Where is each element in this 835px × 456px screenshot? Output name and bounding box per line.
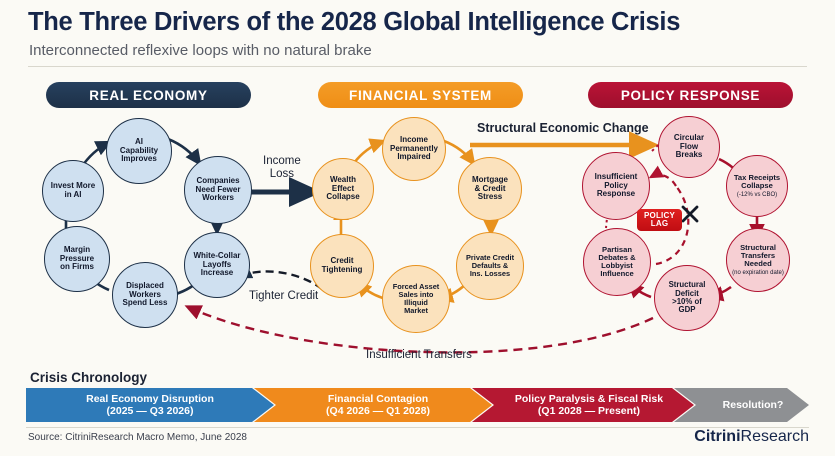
logo-bold: Citrini: [694, 428, 740, 445]
node-wealth-effect-collapse[interactable]: Wealth Effect Collapse: [312, 158, 374, 220]
connector-label-tighter-credit: Tighter Credit: [249, 290, 318, 302]
node-line: on Firms: [60, 263, 94, 272]
footer-divider: [26, 427, 809, 428]
node-displaced-workers-spend-less[interactable]: Displaced Workers Spend Less: [112, 262, 178, 328]
node-credit-tightening[interactable]: Credit Tightening: [310, 234, 374, 298]
node-line: Stress: [478, 193, 502, 202]
node-structural-deficit[interactable]: Structural Deficit >10% of GDP: [654, 265, 720, 331]
income-loss-line1: Income: [263, 155, 301, 168]
node-forced-asset-sales[interactable]: Forced Asset Sales into Illiquid Market: [382, 265, 450, 333]
node-line: Breaks: [676, 151, 703, 160]
node-subtext: (no expiration date): [732, 270, 784, 276]
node-circular-flow-breaks[interactable]: Circular Flow Breaks: [658, 116, 720, 178]
income-loss-line2: Loss: [263, 168, 301, 181]
node-line: Market: [404, 307, 428, 315]
node-white-collar-layoffs-increase[interactable]: White-Collar Layoffs Increase: [184, 232, 250, 298]
node-line: Improves: [121, 155, 157, 164]
policy-lag-line2: LAG: [651, 220, 669, 228]
chrono-label-financial-contagion: Financial Contagion (Q4 2026 — Q1 2028): [288, 393, 468, 417]
node-line: in AI: [64, 191, 81, 200]
node-tax-receipts-collapse[interactable]: Tax Receipts Collapse (-12% vs CBO): [726, 155, 788, 217]
node-line: Tightening: [322, 266, 363, 275]
node-line: Ins. Losses: [470, 270, 510, 278]
node-line: Needed: [744, 260, 771, 268]
policy-lag-badge: POLICY LAG: [637, 209, 682, 231]
node-structural-transfers-needed[interactable]: Structural Transfers Needed (no expirati…: [726, 228, 790, 292]
node-private-credit-defaults[interactable]: Private Credit Defaults & Ins. Losses: [456, 232, 524, 300]
node-income-permanently-impaired[interactable]: Income Permanently Impaired: [382, 117, 446, 181]
chrono-label-real-economy-disruption: Real Economy Disruption (2025 — Q3 2026): [60, 393, 240, 417]
node-line: GDP: [679, 306, 696, 314]
node-margin-pressure-on-firms[interactable]: Margin Pressure on Firms: [44, 226, 110, 292]
logo-light: Research: [741, 428, 809, 445]
citrini-research-logo: CitriniResearch: [694, 428, 809, 446]
node-subtext: (-12% vs CBO): [737, 192, 777, 198]
node-line: Spend Less: [123, 299, 168, 308]
node-line: Collapse: [741, 182, 773, 190]
chronology-title: Crisis Chronology: [30, 370, 147, 385]
node-line: Impaired: [397, 153, 430, 162]
node-line: Response: [597, 190, 635, 199]
chrono-label-resolution: Resolution?: [700, 399, 806, 411]
node-companies-need-fewer-workers[interactable]: Companies Need Fewer Workers: [184, 156, 252, 224]
node-ai-capability-improves[interactable]: AI Capability Improves: [106, 118, 172, 184]
connector-label-income-loss: Income Loss: [263, 155, 301, 181]
connector-label-insufficient-transfers: Insufficient Transfers: [366, 349, 472, 361]
node-invest-more-in-ai[interactable]: Invest More in AI: [42, 160, 104, 222]
source-text: Source: CitriniResearch Macro Memo, June…: [28, 432, 247, 443]
node-line: Workers: [202, 194, 234, 203]
node-line: Influence: [600, 270, 633, 278]
node-line: Collapse: [326, 193, 359, 202]
node-partisan-debates-lobbyist[interactable]: Partisan Debates & Lobbyist Influence: [583, 228, 651, 296]
chrono-label-policy-paralysis: Policy Paralysis & Fiscal Risk (Q1 2028 …: [494, 393, 684, 417]
node-line: Increase: [201, 269, 233, 278]
node-mortgage-credit-stress[interactable]: Mortgage & Credit Stress: [458, 157, 522, 221]
connector-label-structural-economic-change: Structural Economic Change: [477, 121, 649, 135]
